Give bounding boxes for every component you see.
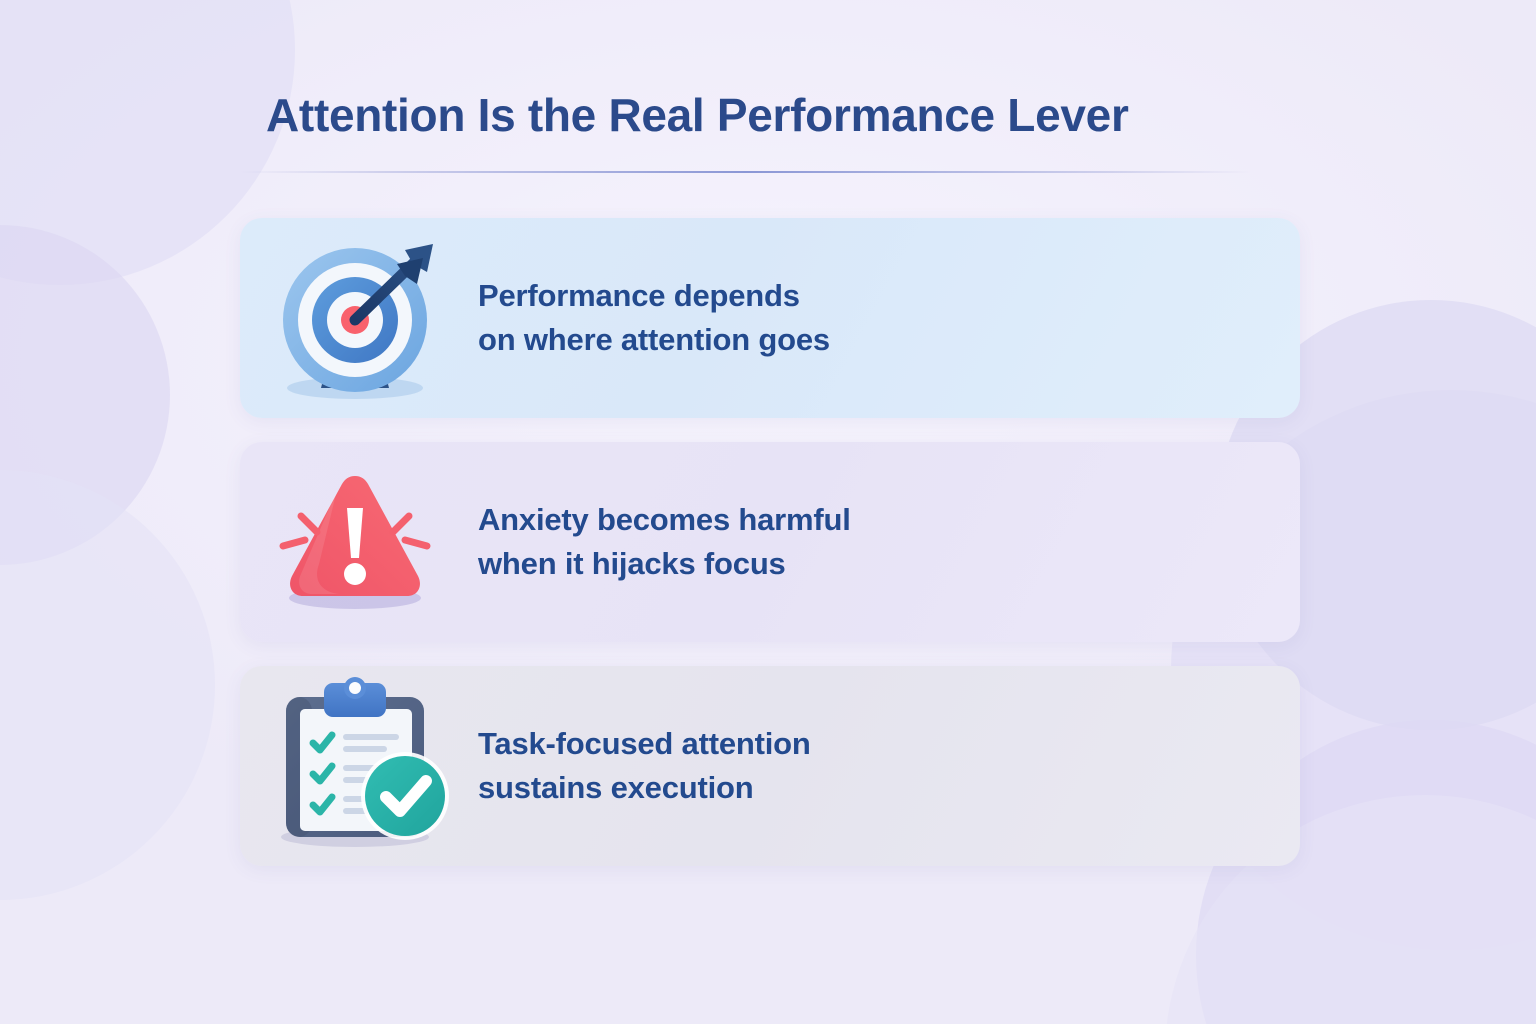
card-line-2: sustains execution: [478, 766, 811, 810]
card-line-2: when it hijacks focus: [478, 542, 851, 586]
clipboard-checklist-icon: [240, 666, 470, 866]
warning-triangle-icon: [240, 442, 470, 642]
card-task-focus-execution[interactable]: Task-focused attention sustains executio…: [240, 666, 1300, 866]
card-line-2: on where attention goes: [478, 318, 830, 362]
card-line-1: Performance depends: [478, 278, 800, 313]
target-arrow-icon: [240, 218, 470, 418]
card-anxiety-focus[interactable]: Anxiety becomes harmful when it hijacks …: [240, 442, 1300, 642]
card-text-anxiety: Anxiety becomes harmful when it hijacks …: [470, 498, 851, 586]
card-text-task-focus: Task-focused attention sustains executio…: [470, 722, 811, 810]
page-title: Attention Is the Real Performance Lever: [266, 88, 1129, 142]
card-performance-attention[interactable]: Performance depends on where attention g…: [240, 218, 1300, 418]
card-text-performance: Performance depends on where attention g…: [470, 274, 830, 362]
card-line-1: Task-focused attention: [478, 726, 811, 761]
slide-root: Attention Is the Real Performance Lever: [0, 0, 1536, 1024]
title-divider: [240, 171, 1252, 173]
card-line-1: Anxiety becomes harmful: [478, 502, 851, 537]
